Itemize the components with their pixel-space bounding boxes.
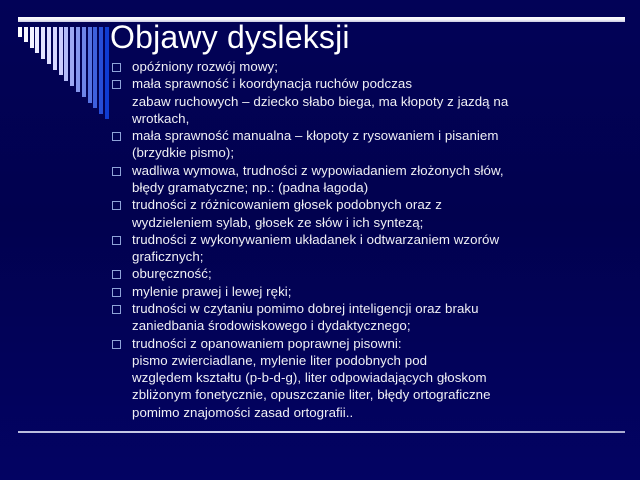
decoration-bar <box>53 27 57 70</box>
decoration-bar <box>24 27 28 42</box>
list-item-label: trudności z wykonywaniem układanek i odt… <box>132 231 632 266</box>
decoration-bar <box>59 27 63 75</box>
list-item: opóźniony rozwój mowy; <box>112 58 632 75</box>
decoration-bar <box>99 27 103 114</box>
page-title: Objawy dysleksji <box>110 20 630 55</box>
square-bullet-icon <box>112 270 121 279</box>
square-bullet-icon <box>112 236 121 245</box>
square-bullet-icon <box>112 80 121 89</box>
decoration-bar <box>105 27 109 119</box>
list-item-label: mylenie prawej i lewej ręki; <box>132 283 632 300</box>
square-bullet-icon <box>112 305 121 314</box>
list-item: trudności w czytaniu pomimo dobrej intel… <box>112 300 632 335</box>
decoration-bar <box>76 27 80 92</box>
decoration-bar <box>82 27 86 97</box>
decoration-bar <box>70 27 74 86</box>
list-item: oburęczność; <box>112 265 632 282</box>
list-item-label: mała sprawność i koordynacja ruchów podc… <box>132 75 632 127</box>
square-bullet-icon <box>112 288 121 297</box>
list-item-label: oburęczność; <box>132 265 632 282</box>
bottom-divider-rule <box>18 431 625 433</box>
square-bullet-icon <box>112 201 121 210</box>
list-item-label: mała sprawność manualna – kłopoty z ryso… <box>132 127 632 162</box>
decoration-bar <box>64 27 68 81</box>
decoration-bar <box>30 27 34 48</box>
list-item: trudności z opanowaniem poprawnej pisown… <box>112 335 632 421</box>
decoration-bar <box>41 27 45 59</box>
list-item: trudności z różnicowaniem głosek podobny… <box>112 196 632 231</box>
square-bullet-icon <box>112 132 121 141</box>
list-item-label: wadliwa wymowa, trudności z wypowiadanie… <box>132 162 632 197</box>
presentation-slide: Objawy dysleksji opóźniony rozwój mowy;m… <box>0 0 640 480</box>
list-item: trudności z wykonywaniem układanek i odt… <box>112 231 632 266</box>
decoration-bar <box>88 27 92 103</box>
square-bullet-icon <box>112 340 121 349</box>
square-bullet-icon <box>112 63 121 72</box>
square-bullet-icon <box>112 167 121 176</box>
decoration-bar <box>35 27 39 53</box>
list-item-label: opóźniony rozwój mowy; <box>132 58 632 75</box>
decoration-bar <box>47 27 51 64</box>
decoration-bar <box>93 27 97 108</box>
list-item-label: trudności z opanowaniem poprawnej pisown… <box>132 335 632 421</box>
bullet-list: opóźniony rozwój mowy;mała sprawność i k… <box>112 58 632 421</box>
list-item: mała sprawność i koordynacja ruchów podc… <box>112 75 632 127</box>
list-item: wadliwa wymowa, trudności z wypowiadanie… <box>112 162 632 197</box>
list-item: mała sprawność manualna – kłopoty z ryso… <box>112 127 632 162</box>
comb-bars-decoration-icon <box>18 27 110 119</box>
list-item-label: trudności w czytaniu pomimo dobrej intel… <box>132 300 632 335</box>
list-item: mylenie prawej i lewej ręki; <box>112 283 632 300</box>
list-item-label: trudności z różnicowaniem głosek podobny… <box>132 196 632 231</box>
decoration-bar <box>18 27 22 37</box>
